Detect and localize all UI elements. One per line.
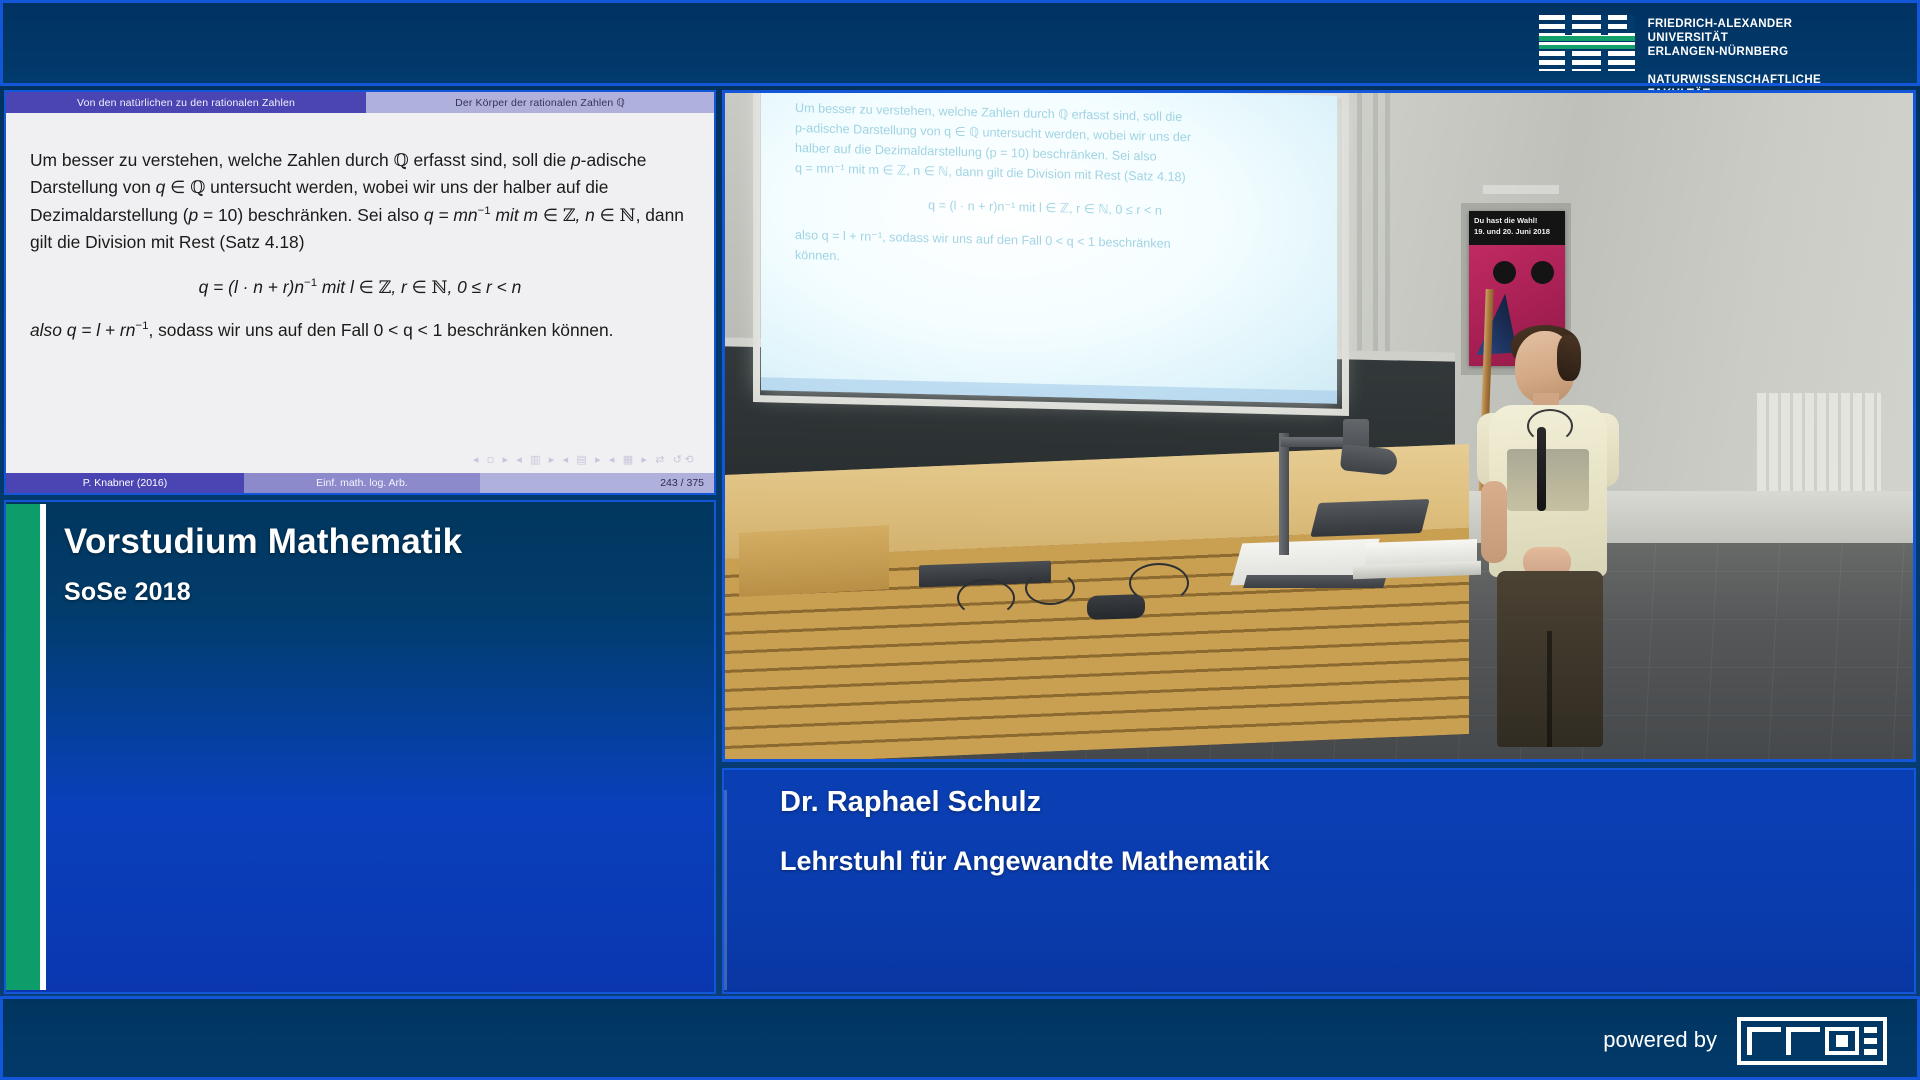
- bottom-bar: powered by: [0, 996, 1920, 1080]
- powered-by-label: powered by: [1603, 1027, 1717, 1053]
- fau-name-line3: ERLANGEN-NÜRNBERG: [1648, 45, 1821, 59]
- poster-headline-text: Du hast die Wahl!: [1474, 215, 1560, 226]
- p1-in: ∈: [165, 177, 190, 197]
- poster-headline: Du hast die Wahl! 19. und 20. Juni 2018: [1469, 211, 1565, 245]
- presenter-arm-right: [1591, 481, 1617, 563]
- p1-Q: ℚ: [393, 151, 408, 171]
- course-term: SoSe 2018: [64, 578, 191, 607]
- fau-logo: FRIEDRICH-ALEXANDER UNIVERSITÄT ERLANGEN…: [1539, 15, 1821, 101]
- beamer-navigation-icons[interactable]: ◂ ▫ ▸ ◂ ▥ ▸ ◂ ▤ ▸ ◂ ▦ ▸ ⇄ ↺⟲: [473, 452, 696, 469]
- projected-slide-text: Um besser zu verstehen, welche Zahlen du…: [795, 99, 1295, 278]
- slide-paragraph-2: also q = l + rn−1, sodass wir uns auf de…: [30, 317, 690, 343]
- tshirt-print-graphic: [1507, 449, 1589, 511]
- rrze-logo-icon: [1737, 1017, 1887, 1065]
- slide-footer: P. Knabner (2016) Einf. math. log. Arb. …: [6, 473, 714, 493]
- top-brand-bar: FRIEDRICH-ALEXANDER UNIVERSITÄT ERLANGEN…: [0, 0, 1920, 86]
- rrze-glyph-1: [1747, 1027, 1781, 1055]
- presenter-hair-side: [1557, 335, 1581, 381]
- rrze-glyph-2: [1786, 1027, 1820, 1055]
- presenter-info-panel: Dr. Raphael Schulz Lehrstuhl für Angewan…: [722, 768, 1916, 994]
- p1-q: q: [156, 177, 166, 197]
- p1-h: , n ∈: [576, 205, 620, 225]
- nav-section-active[interactable]: Von den natürlichen zu den rationalen Za…: [6, 92, 366, 113]
- cable-loop-2: [1025, 571, 1075, 605]
- fau-name-line1: FRIEDRICH-ALEXANDER: [1648, 17, 1821, 31]
- green-accent-bar: [6, 504, 40, 990]
- poster-dot-1: [1493, 261, 1516, 284]
- p1-e: = 10) beschränken. Sei also: [198, 205, 424, 225]
- p1-a: Um besser zu verstehen, welche Zahlen du…: [30, 150, 393, 170]
- f-a: q = (l · n + r)n: [199, 277, 304, 297]
- rrze-glyph-4: [1864, 1027, 1877, 1055]
- presenter-person: [1471, 331, 1631, 751]
- p1-sup: −1: [478, 205, 491, 217]
- small-podium: [739, 525, 889, 597]
- f-c: , r ∈: [391, 277, 431, 297]
- tablet-device: [1310, 499, 1429, 537]
- presenter-arm-left: [1481, 481, 1507, 563]
- p1-N: ℕ: [620, 206, 636, 226]
- slide-footer-course: Einf. math. log. Arb.: [244, 473, 480, 493]
- p2-sup: −1: [135, 320, 148, 332]
- input-device: [1087, 594, 1145, 620]
- lecture-video-panel[interactable]: Um besser zu verstehen, welche Zahlen du…: [722, 90, 1916, 762]
- p1-Z: ℤ: [563, 206, 576, 226]
- cable-loop-1: [957, 579, 1015, 617]
- f-sup: −1: [304, 277, 317, 289]
- f-d: , 0 ≤ r < n: [448, 277, 522, 297]
- projection-screen: Um besser zu verstehen, welche Zahlen du…: [761, 90, 1337, 404]
- proj-formula: q = (l · n + r)n⁻¹ mit l ∈ ℤ, r ∈ ℕ, 0 ≤…: [795, 193, 1295, 225]
- presenter-name: Dr. Raphael Schulz: [780, 786, 1041, 819]
- fau-logomark-icon: [1539, 15, 1635, 71]
- slide-footer-page: 243 / 375: [480, 473, 714, 493]
- f-Z: ℤ: [379, 278, 392, 298]
- lecture-recording-page: FRIEDRICH-ALEXANDER UNIVERSITÄT ERLANGEN…: [0, 0, 1920, 1080]
- slide-formula: q = (l · n + r)n−1 mit l ∈ ℤ, r ∈ ℕ, 0 ≤…: [30, 274, 690, 301]
- slide-content: Um besser zu verstehen, welche Zahlen du…: [6, 113, 714, 475]
- p1-f: q = mn: [424, 205, 478, 225]
- f-N: ℕ: [432, 278, 448, 298]
- panel-divider: [724, 790, 727, 990]
- fau-wordmark: FRIEDRICH-ALEXANDER UNIVERSITÄT ERLANGEN…: [1648, 15, 1821, 101]
- poster-dot-2: [1531, 261, 1554, 284]
- poster-date-text: 19. und 20. Juni 2018: [1474, 226, 1560, 237]
- p1-p2: p: [189, 205, 199, 225]
- course-title-panel: Vorstudium Mathematik SoSe 2018: [4, 500, 716, 994]
- slide-paragraph-1: Um besser zu verstehen, welche Zahlen du…: [30, 147, 690, 256]
- p2-b: , sodass wir uns auf den Fall 0 < q < 1 …: [148, 320, 613, 340]
- white-accent-bar: [40, 504, 46, 990]
- nav-section-inactive[interactable]: Der Körper der rationalen Zahlen ℚ: [366, 92, 714, 113]
- document-camera-post: [1279, 433, 1289, 555]
- fau-faculty-line1: NATURWISSENSCHAFTLICHE: [1648, 73, 1821, 87]
- cable-loop-3: [1129, 563, 1189, 603]
- p1-Q2: ℚ: [190, 178, 205, 198]
- f-b: mit l ∈: [317, 277, 379, 297]
- p1-b: erfasst sind, soll die: [409, 150, 571, 170]
- p1-p: p: [571, 150, 581, 170]
- rrze-glyph-3: [1825, 1027, 1859, 1055]
- p1-g: mit m ∈: [491, 205, 563, 225]
- p2-a: also q = l + rn: [30, 320, 135, 340]
- slide-section-nav: Von den natürlichen zu den rationalen Za…: [6, 92, 714, 113]
- lapel-microphone: [1537, 427, 1546, 511]
- wall-sign: [1483, 185, 1559, 194]
- slide-footer-author: P. Knabner (2016): [6, 473, 244, 493]
- course-title: Vorstudium Mathematik: [64, 522, 462, 562]
- slide-panel[interactable]: Von den natürlichen zu den rationalen Za…: [4, 90, 716, 495]
- fau-name-line2: UNIVERSITÄT: [1648, 31, 1821, 45]
- presenter-chair: Lehrstuhl für Angewandte Mathematik: [780, 846, 1270, 877]
- presenter-leg-separation: [1547, 631, 1552, 747]
- microphone-cord: [1527, 409, 1573, 443]
